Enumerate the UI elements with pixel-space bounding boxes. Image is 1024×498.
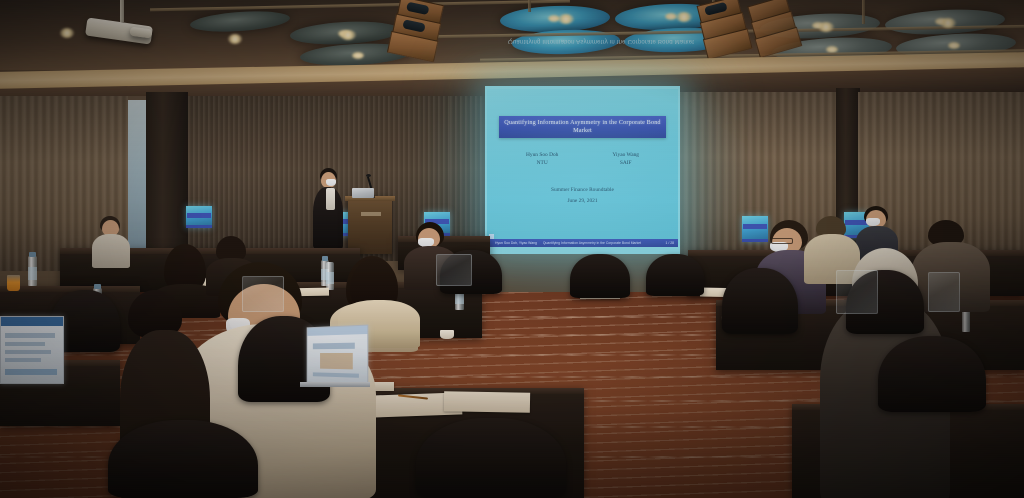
monitor-slide-title [187,213,211,218]
chair [570,254,630,298]
footer-page-number: 1 / 28 [666,241,678,245]
laptop-base [300,382,370,387]
microphone-head [366,174,371,177]
author-block: Yiyao Wang SAIF [612,151,639,168]
browser-toolbar [1,317,63,326]
downlight [228,34,242,44]
laptop-on-lectern [352,188,374,198]
bottle-cap [94,284,101,289]
chair [722,268,798,334]
downlight [60,28,74,38]
slide-footer: Hyun Soo Doh, Yiyao Wang Quantifying Inf… [487,239,678,247]
attendee-face-mask [866,218,880,226]
presenter-face-mask [326,179,336,186]
panel-highlight [948,42,960,49]
event-name: Summer Finance Roundtable [499,185,666,196]
slide-authors: Hyun Soo Doh NTU Yiyao Wang SAIF [499,151,666,168]
water-bottle [28,256,37,286]
lectern [348,196,392,254]
author-block: Hyun Soo Doh NTU [526,151,558,168]
content-block [313,343,355,350]
downlight [940,18,956,28]
content-block [5,369,57,375]
wall-column [146,92,188,267]
bottle-cap [322,256,328,261]
conference-room-photo: Quantifying Information Asymmetry in the… [0,0,1024,498]
bottle-label [28,267,37,280]
content-block [5,358,41,362]
acrylic-divider [836,270,878,314]
projector-mount [120,0,124,22]
truss-drop [528,0,531,12]
attendee-far-left [92,216,132,266]
content-block [5,350,51,354]
lectern-nameplate [361,212,381,216]
projection-screen: Quantifying Information Asymmetry in the… [485,86,680,254]
laptop-screen-foreground[interactable] [307,325,369,386]
truss-drop [862,0,865,24]
table-top [0,286,140,292]
content-block [5,342,45,346]
ceiling-slide-reflection: Quantifying Information Asymmetry in the… [508,38,694,44]
content-block [5,333,55,338]
downlight [340,30,356,40]
water-bottle [962,310,970,332]
presenter [310,168,350,260]
downlight [818,22,834,32]
chair [646,254,704,296]
acrylic-divider [436,254,472,286]
confidence-monitor [186,206,212,228]
presenter-shirt [326,188,335,210]
juice-glass [7,275,20,291]
presentation-slide: Quantifying Information Asymmetry in the… [487,89,678,247]
laptop-screen-left[interactable] [0,316,64,384]
author-name: Yiyao Wang [612,151,639,159]
eyeglasses-icon [771,238,793,244]
chair [878,336,986,412]
content-block [320,353,353,369]
footer-authors: Hyun Soo Doh, Yiyao Wang [487,241,537,245]
browser-toolbar [308,326,368,336]
content-block [313,372,359,377]
downlight [558,14,574,24]
slide-title-bar: Quantifying Information Asymmetry in the… [499,116,666,138]
slide-title: Quantifying Information Asymmetry in the… [502,119,663,134]
coffee-cup [440,330,454,339]
downlight [676,12,692,22]
author-name: Hyun Soo Doh [526,151,558,159]
author-affiliation: SAIF [612,159,639,168]
acrylic-divider [928,272,960,312]
acrylic-divider [242,276,284,312]
chair [108,420,258,498]
panel-highlight [352,52,364,59]
event-date: June 29, 2021 [499,196,666,207]
footer-title: Quantifying Information Asymmetry in the… [537,241,641,245]
bottle-cap [29,252,36,257]
monitor-footer-bar [186,225,212,228]
attendee-torso [92,234,130,268]
chair [416,418,566,498]
paper-handout [444,391,530,412]
slide-event-block: Summer Finance Roundtable June 29, 2021 [499,185,666,207]
author-affiliation: NTU [526,159,558,168]
